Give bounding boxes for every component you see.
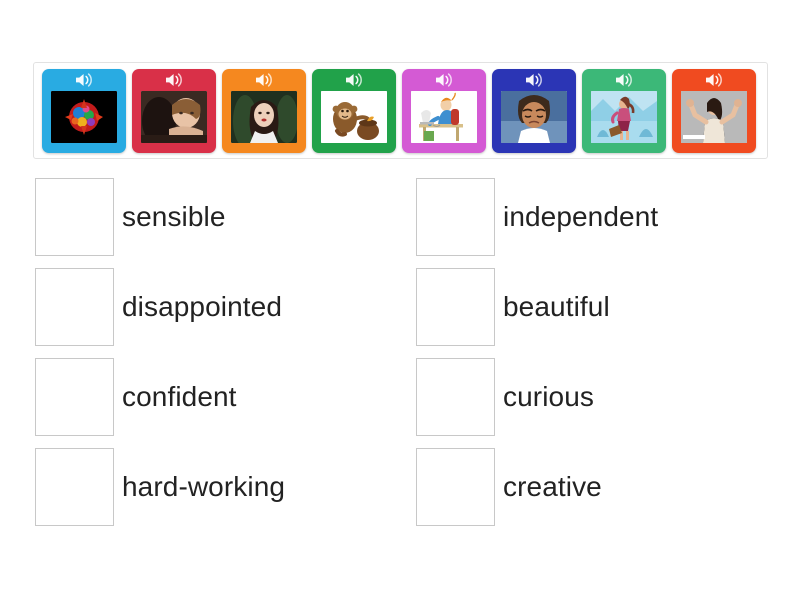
card-thumbnail-girl-resting-head (141, 91, 207, 143)
answer-label: creative (503, 473, 602, 501)
answer-column-right: independentbeautifulcuriouscreative (416, 178, 796, 538)
answer-row: independent (416, 178, 796, 256)
audio-card-4[interactable] (312, 69, 396, 153)
card-thumbnail-strong-woman (681, 91, 747, 143)
answer-row: creative (416, 448, 796, 526)
answer-row: sensible (35, 178, 415, 256)
answer-label: curious (503, 383, 594, 411)
answer-label: confident (122, 383, 237, 411)
answer-row: disappointed (35, 268, 415, 346)
drop-zone-left-1[interactable] (35, 178, 114, 256)
speaker-icon[interactable] (132, 69, 216, 91)
answer-row: beautiful (416, 268, 796, 346)
answer-area: sensibledisappointedconfidenthard-workin… (0, 178, 800, 538)
audio-card-tray (33, 62, 768, 159)
speaker-icon[interactable] (222, 69, 306, 91)
drop-zone-left-3[interactable] (35, 358, 114, 436)
answer-label: independent (503, 203, 658, 231)
drop-zone-left-2[interactable] (35, 268, 114, 346)
card-thumbnail-monkey-cartoon (321, 91, 387, 143)
audio-card-3[interactable] (222, 69, 306, 153)
card-thumbnail-person-at-desk-cartoon (411, 91, 477, 143)
answer-row: confident (35, 358, 415, 436)
card-thumbnail-woman-walking-illustration (591, 91, 657, 143)
drop-zone-right-3[interactable] (416, 358, 495, 436)
card-thumbnail-woman-portrait (231, 91, 297, 143)
audio-card-1[interactable] (42, 69, 126, 153)
card-thumbnail-sad-boy (501, 91, 567, 143)
answer-row: hard-working (35, 448, 415, 526)
speaker-icon[interactable] (582, 69, 666, 91)
match-up-activity: sensibledisappointedconfidenthard-workin… (0, 0, 800, 600)
audio-card-7[interactable] (582, 69, 666, 153)
audio-card-2[interactable] (132, 69, 216, 153)
drop-zone-right-2[interactable] (416, 268, 495, 346)
answer-label: hard-working (122, 473, 285, 501)
answer-label: beautiful (503, 293, 610, 321)
speaker-icon[interactable] (672, 69, 756, 91)
audio-card-5[interactable] (402, 69, 486, 153)
speaker-icon[interactable] (312, 69, 396, 91)
answer-label: disappointed (122, 293, 282, 321)
drop-zone-left-4[interactable] (35, 448, 114, 526)
answer-column-left: sensibledisappointedconfidenthard-workin… (35, 178, 415, 538)
answer-row: curious (416, 358, 796, 436)
drop-zone-right-4[interactable] (416, 448, 495, 526)
speaker-icon[interactable] (492, 69, 576, 91)
speaker-icon[interactable] (402, 69, 486, 91)
speaker-icon[interactable] (42, 69, 126, 91)
audio-card-6[interactable] (492, 69, 576, 153)
card-thumbnail-colorful-explosion-art (51, 91, 117, 143)
answer-label: sensible (122, 203, 226, 231)
audio-card-8[interactable] (672, 69, 756, 153)
drop-zone-right-1[interactable] (416, 178, 495, 256)
